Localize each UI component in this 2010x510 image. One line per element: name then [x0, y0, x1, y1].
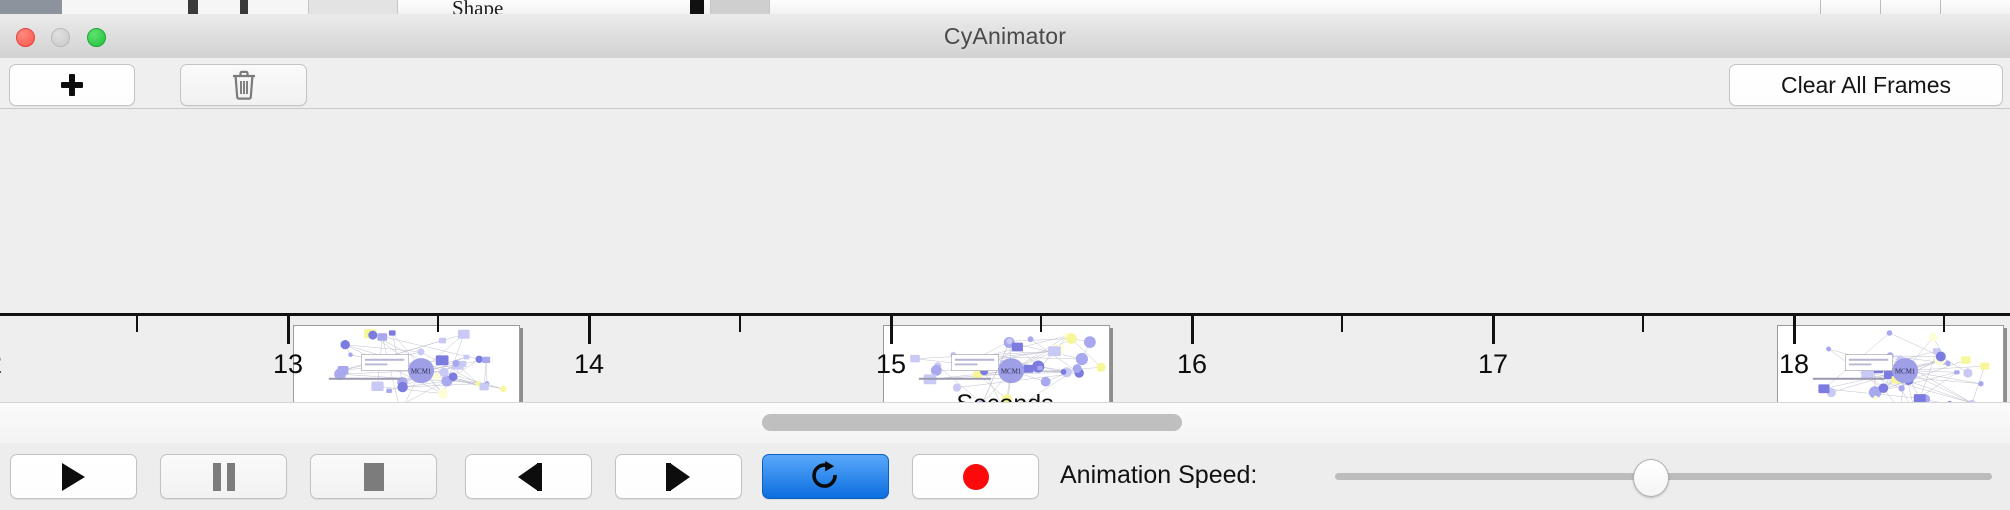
play-button[interactable] [10, 454, 137, 499]
pause-button[interactable] [160, 454, 287, 499]
background-window-strip: Shape [0, 0, 2010, 15]
bg-segment [690, 0, 704, 14]
background-window-label: Shape [452, 0, 503, 15]
svg-text:MCM1: MCM1 [1001, 367, 1022, 375]
toolbar: Clear All Frames [0, 58, 2010, 109]
svg-text:MCM1: MCM1 [411, 367, 432, 375]
animation-speed-label: Animation Speed: [1060, 454, 1257, 497]
pause-icon [213, 463, 235, 491]
first-frame-button[interactable] [465, 454, 592, 499]
timeline-axis-title: Seconds [0, 390, 2010, 402]
animation-speed-slider-thumb[interactable] [1633, 459, 1669, 497]
bg-segment [240, 0, 248, 14]
tick-label: 18 [1779, 349, 1809, 380]
bg-tab [710, 0, 770, 14]
tick-minor [1943, 316, 1945, 332]
bg-segment [1940, 0, 1941, 14]
timeline-scrollbar[interactable] [0, 402, 2010, 444]
scrollbar-thumb[interactable] [762, 414, 1182, 431]
svg-text:MCM1: MCM1 [1895, 367, 1916, 375]
delete-frame-button[interactable] [180, 64, 307, 106]
loop-icon [811, 461, 841, 493]
tick-label: 17 [1478, 349, 1508, 380]
tick-label: 14 [574, 349, 604, 380]
tick-major [1793, 316, 1796, 344]
tick-label: 13 [273, 349, 303, 380]
clear-all-frames-label: Clear All Frames [1781, 72, 1951, 99]
tick-major [1191, 316, 1194, 344]
tick-minor [437, 316, 439, 332]
tick-major [287, 316, 290, 344]
bg-segment [140, 0, 189, 14]
bg-segment [62, 0, 141, 14]
bg-segment [248, 0, 309, 14]
tick-minor [1341, 316, 1343, 332]
trash-icon [231, 70, 257, 100]
tick-major [588, 316, 591, 344]
tick-minor [136, 316, 138, 332]
tick-minor [1642, 316, 1644, 332]
tick-major [890, 316, 893, 344]
playback-control-bar: Animation Speed: [0, 443, 2010, 510]
plus-icon [60, 73, 84, 97]
stop-icon [364, 463, 384, 491]
stop-button[interactable] [310, 454, 437, 499]
window-title: CyAnimator [0, 14, 2010, 58]
play-icon [62, 463, 85, 491]
skip-to-start-icon [516, 463, 542, 491]
record-icon [963, 464, 989, 490]
bg-tab [308, 0, 398, 14]
tick-label: 16 [1177, 349, 1207, 380]
bg-segment [198, 0, 241, 14]
loop-button[interactable] [762, 454, 889, 499]
tick-label: 12 [0, 349, 2, 380]
tick-minor [739, 316, 741, 332]
bg-segment [1820, 0, 1821, 14]
title-bar: CyAnimator [0, 14, 2010, 59]
bg-segment [1880, 0, 1881, 14]
record-button[interactable] [912, 454, 1039, 499]
cyanimator-window: Shape CyAnimator Clear All Frames [0, 0, 2010, 510]
timeline-axis-line [0, 313, 2010, 316]
bg-segment-dark [0, 0, 63, 14]
skip-to-end-icon [666, 463, 692, 491]
bg-segment [188, 0, 198, 14]
tick-minor [1040, 316, 1042, 332]
tick-label: 15 [876, 349, 906, 380]
add-frame-button[interactable] [9, 64, 135, 106]
timeline-panel[interactable]: MCM1MCM1MCM1 12131415161718 Seconds [0, 109, 2010, 402]
clear-all-frames-button[interactable]: Clear All Frames [1729, 64, 2003, 106]
last-frame-button[interactable] [615, 454, 742, 499]
tick-major [1492, 316, 1495, 344]
